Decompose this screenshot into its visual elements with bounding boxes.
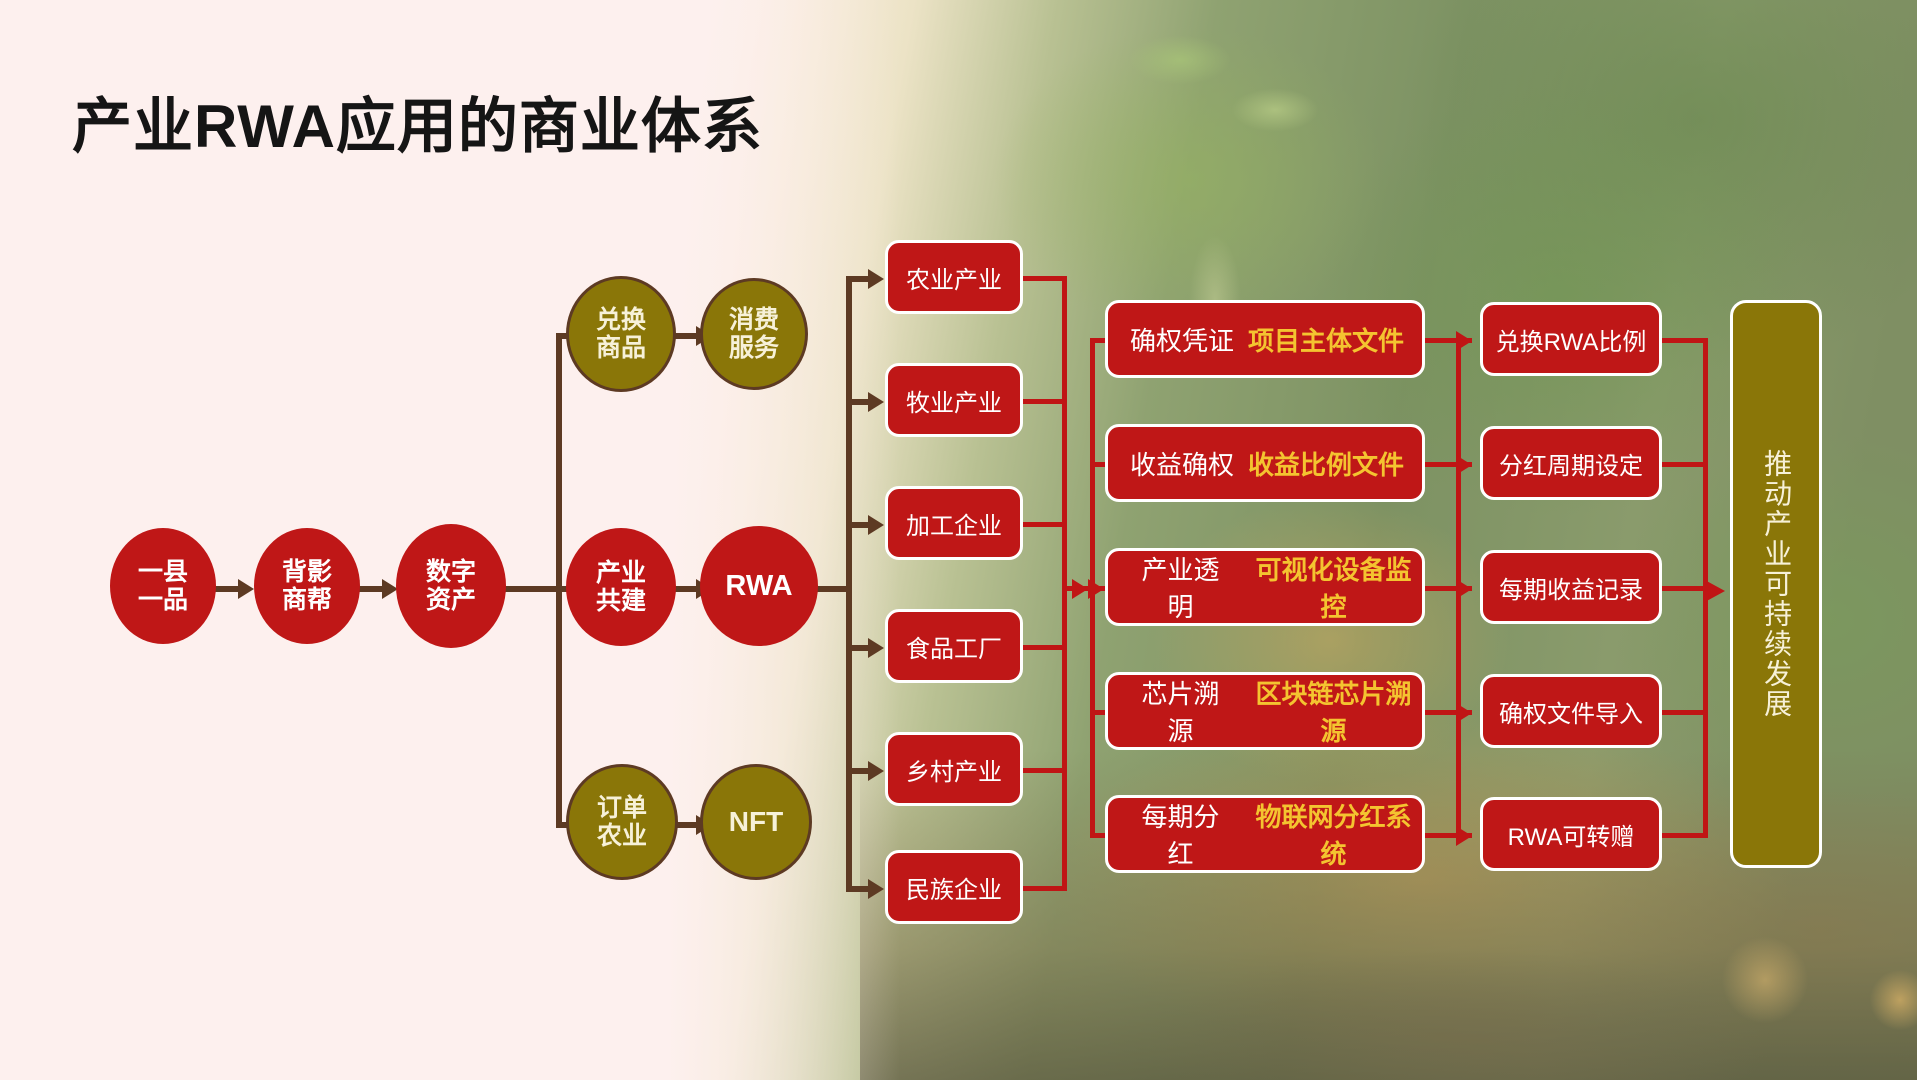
- capability-box[interactable]: 产业透明 可视化设备监控: [1105, 548, 1425, 626]
- capability-name: 芯片溯源: [1130, 674, 1231, 748]
- connector-arrow: [1072, 579, 1088, 599]
- connector-line: [500, 586, 562, 592]
- connector-bus-vertical: [1062, 276, 1067, 891]
- node-dingdan-nongye[interactable]: 订单 农业: [566, 764, 678, 880]
- connector-arrow: [868, 638, 884, 658]
- connector-arrow: [1456, 331, 1472, 351]
- connector-arrow: [1456, 703, 1472, 723]
- connector-line: [1023, 768, 1067, 773]
- connector-line: [358, 586, 382, 592]
- connector-line: [1660, 462, 1708, 467]
- connector-arrow: [1456, 579, 1472, 599]
- connector-line: [1023, 399, 1067, 404]
- outcome-box[interactable]: 推动产业可持续发展: [1730, 300, 1822, 868]
- setting-box[interactable]: 分红周期设定: [1480, 426, 1662, 500]
- connector-line: [1660, 586, 1708, 591]
- connector-arrow: [1703, 579, 1725, 603]
- connector-arrow: [868, 269, 884, 289]
- connector-bus-vertical: [556, 333, 562, 828]
- capability-name: 确权凭证: [1130, 321, 1234, 358]
- capability-name: 产业透明: [1130, 550, 1231, 624]
- node-duihuan-shangpin[interactable]: 兑换 商品: [566, 276, 676, 392]
- node-nft[interactable]: NFT: [700, 764, 812, 880]
- connector-line: [846, 768, 868, 774]
- connector-arrow: [868, 761, 884, 781]
- connector-line: [846, 886, 868, 892]
- capability-detail: 物联网分红系统: [1245, 797, 1422, 871]
- connector-bus-vertical: [846, 276, 852, 890]
- industry-box[interactable]: 农业产业: [885, 240, 1023, 314]
- connector-line: [1660, 710, 1708, 715]
- capability-box[interactable]: 确权凭证 项目主体文件: [1105, 300, 1425, 378]
- node-xiaofei-fuwu[interactable]: 消费 服务: [700, 278, 808, 390]
- capability-name: 每期分红: [1130, 797, 1231, 871]
- industry-box[interactable]: 乡村产业: [885, 732, 1023, 806]
- node-chanye-gongjian[interactable]: 产业 共建: [566, 528, 676, 646]
- connector-arrow: [868, 879, 884, 899]
- connector-arrow: [868, 515, 884, 535]
- capability-box[interactable]: 收益确权 收益比例文件: [1105, 424, 1425, 502]
- connector-line: [816, 586, 850, 592]
- industry-box[interactable]: 牧业产业: [885, 363, 1023, 437]
- connector-line: [214, 586, 238, 592]
- connector-line: [1023, 276, 1067, 281]
- connector-arrow: [238, 579, 254, 599]
- page-title: 产业RWA应用的商业体系: [72, 78, 763, 165]
- connector-arrow: [1456, 455, 1472, 475]
- industry-box[interactable]: 民族企业: [885, 850, 1023, 924]
- industry-box[interactable]: 食品工厂: [885, 609, 1023, 683]
- node-beiying-shangbang[interactable]: 背影 商帮: [254, 528, 360, 644]
- capability-box[interactable]: 芯片溯源 区块链芯片溯源: [1105, 672, 1425, 750]
- setting-box[interactable]: 兑换RWA比例: [1480, 302, 1662, 376]
- connector-line: [846, 645, 868, 651]
- setting-box[interactable]: 每期收益记录: [1480, 550, 1662, 624]
- connector-line: [846, 276, 868, 282]
- connector-line: [1023, 886, 1067, 891]
- setting-box[interactable]: RWA可转赠: [1480, 797, 1662, 871]
- slide-canvas: 产业RWA应用的商业体系: [0, 0, 1917, 1080]
- industry-box[interactable]: 加工企业: [885, 486, 1023, 560]
- capability-detail: 区块链芯片溯源: [1245, 674, 1422, 748]
- connector-line: [1023, 645, 1067, 650]
- connector-line: [1660, 338, 1708, 343]
- connector-line: [1660, 833, 1708, 838]
- node-yixian-yipin[interactable]: 一县 一品: [110, 528, 216, 644]
- connector-line: [1023, 522, 1067, 527]
- capability-detail: 项目主体文件: [1248, 321, 1404, 358]
- connector-line: [846, 522, 868, 528]
- node-shuzi-zichan[interactable]: 数字 资产: [396, 524, 506, 648]
- connector-arrow: [868, 392, 884, 412]
- setting-box[interactable]: 确权文件导入: [1480, 674, 1662, 748]
- capability-detail: 收益比例文件: [1248, 445, 1404, 482]
- capability-detail: 可视化设备监控: [1245, 550, 1422, 624]
- capability-box[interactable]: 每期分红 物联网分红系统: [1105, 795, 1425, 873]
- node-rwa[interactable]: RWA: [700, 526, 818, 646]
- capability-name: 收益确权: [1130, 445, 1234, 482]
- connector-arrow: [1456, 826, 1472, 846]
- connector-line: [846, 399, 868, 405]
